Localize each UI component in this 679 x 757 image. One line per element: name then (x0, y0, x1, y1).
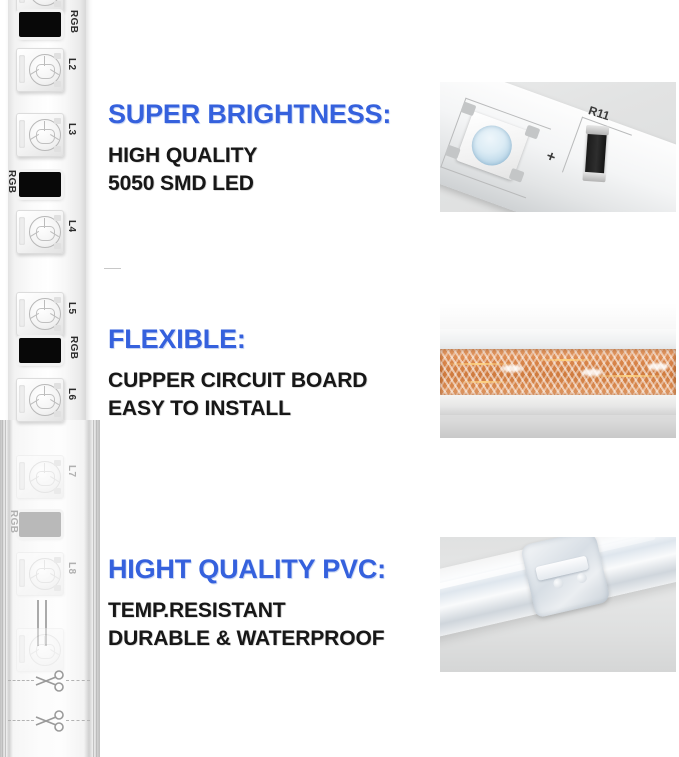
scissors-icon (32, 709, 66, 738)
led-package-l5 (16, 292, 64, 336)
rgb-driver-chip (19, 512, 61, 537)
feature-block-brightness: SUPER BRIGHTNESS: HIGH QUALITY 5050 SMD … (108, 100, 438, 197)
cut-mark-2 (6, 708, 92, 734)
divider-mark (104, 268, 121, 269)
feature-line-2: 5050 SMD LED (108, 170, 438, 197)
photo-pvc-tube-end (440, 537, 676, 672)
led-strip-column: RGB L2 L3 RGB L4 L5 RGB L6 L7 RGB (0, 0, 100, 757)
led-package-l4 (16, 210, 64, 254)
led-package-l6 (16, 378, 64, 422)
feature-block-pvc: HIGHT QUALITY PVC: TEMP.RESISTANT DURABL… (108, 555, 438, 652)
led-package-l8 (16, 552, 64, 596)
pcb-board: R11 + D2 (440, 82, 676, 212)
feature-line-1: HIGH QUALITY (108, 142, 438, 169)
sleeve-edge-left (2, 420, 3, 757)
rgb-chip-label: RGB (68, 336, 78, 359)
sleeve-edge-right-2 (96, 420, 97, 757)
led-label-l2: L2 (66, 58, 76, 70)
rgb-chip-label: RGB (8, 510, 18, 533)
copper-braid (440, 349, 676, 397)
led-label-l8: L8 (66, 562, 76, 574)
led-label-l4: L4 (66, 220, 76, 232)
feature-block-flexible: FLEXIBLE: CUPPER CIRCUIT BOARD EASY TO I… (108, 325, 438, 422)
feature-line-2: DURABLE & WATERPROOF (108, 625, 438, 652)
feature-heading-pvc: HIGHT QUALITY PVC: (108, 555, 438, 583)
photo-smd-led-macro: R11 + D2 (440, 82, 676, 212)
led-package-l7 (16, 455, 64, 499)
rgb-driver-chip (19, 12, 61, 37)
silkscreen-plus: + (544, 147, 558, 166)
photo-copper-circuit-board (440, 303, 676, 438)
rgb-driver-chip (19, 338, 61, 363)
sleeve-edge-left-2 (5, 420, 6, 757)
led-label-l6: L6 (66, 388, 76, 400)
scissors-icon (32, 669, 66, 698)
rgb-chip-label: RGB (68, 10, 78, 33)
pvc-sleeve-bottom (440, 395, 676, 415)
feature-line-2: EASY TO INSTALL (108, 395, 438, 422)
rgb-driver-chip (19, 172, 61, 197)
led-label-l3: L3 (66, 123, 76, 135)
led-package-l2 (16, 48, 64, 92)
resistor-r11 (585, 131, 607, 176)
led-package-bottom (16, 628, 64, 672)
led-package-partial (16, 0, 64, 12)
pvc-tube-end-face (520, 537, 611, 618)
feature-heading-brightness: SUPER BRIGHTNESS: (108, 100, 438, 128)
led-label-l5: L5 (66, 302, 76, 314)
led-package-l3 (16, 113, 64, 157)
pvc-tube (440, 537, 676, 641)
led-label-l7: L7 (66, 465, 76, 477)
feature-heading-flexible: FLEXIBLE: (108, 325, 438, 353)
led-lens-icon (29, 634, 61, 666)
feature-line-1: CUPPER CIRCUIT BOARD (108, 367, 438, 394)
sleeve-edge-right (93, 420, 94, 757)
cut-mark-1 (6, 668, 92, 694)
feature-line-1: TEMP.RESISTANT (108, 597, 438, 624)
rgb-chip-label: RGB (6, 170, 16, 193)
